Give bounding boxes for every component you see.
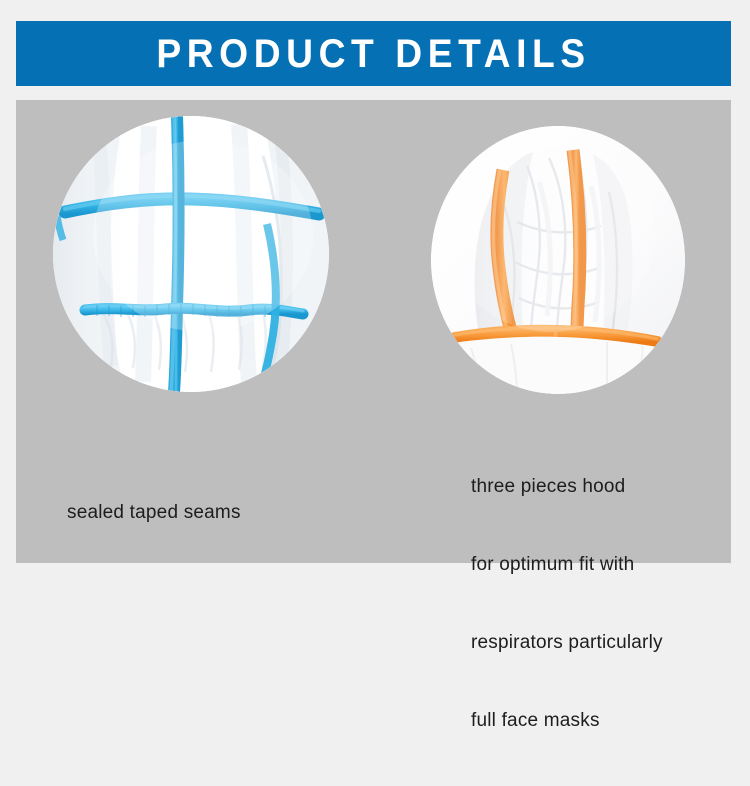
content-panel: sealed taped seams three pieces hood for… bbox=[16, 100, 731, 563]
caption-line: respirators particularly bbox=[471, 630, 663, 656]
caption-three-pieces-hood: three pieces hood for optimum fit with r… bbox=[471, 422, 663, 786]
caption-line: for optimum fit with bbox=[471, 552, 663, 578]
coverall-back-seams-photo bbox=[53, 116, 329, 392]
header-band: PRODUCT DETAILS bbox=[16, 21, 731, 86]
caption-line: full face masks bbox=[471, 708, 663, 734]
coverall-back-seams-illustration bbox=[53, 116, 329, 392]
product-details-banner: PRODUCT DETAILS bbox=[0, 0, 750, 636]
caption-line: three pieces hood bbox=[471, 474, 663, 500]
caption-line: sealed taped seams bbox=[67, 500, 241, 526]
page-title: PRODUCT DETAILS bbox=[156, 34, 590, 74]
caption-sealed-taped-seams: sealed taped seams bbox=[67, 448, 241, 578]
three-piece-hood-photo bbox=[431, 126, 685, 394]
three-piece-hood-illustration bbox=[431, 126, 685, 394]
